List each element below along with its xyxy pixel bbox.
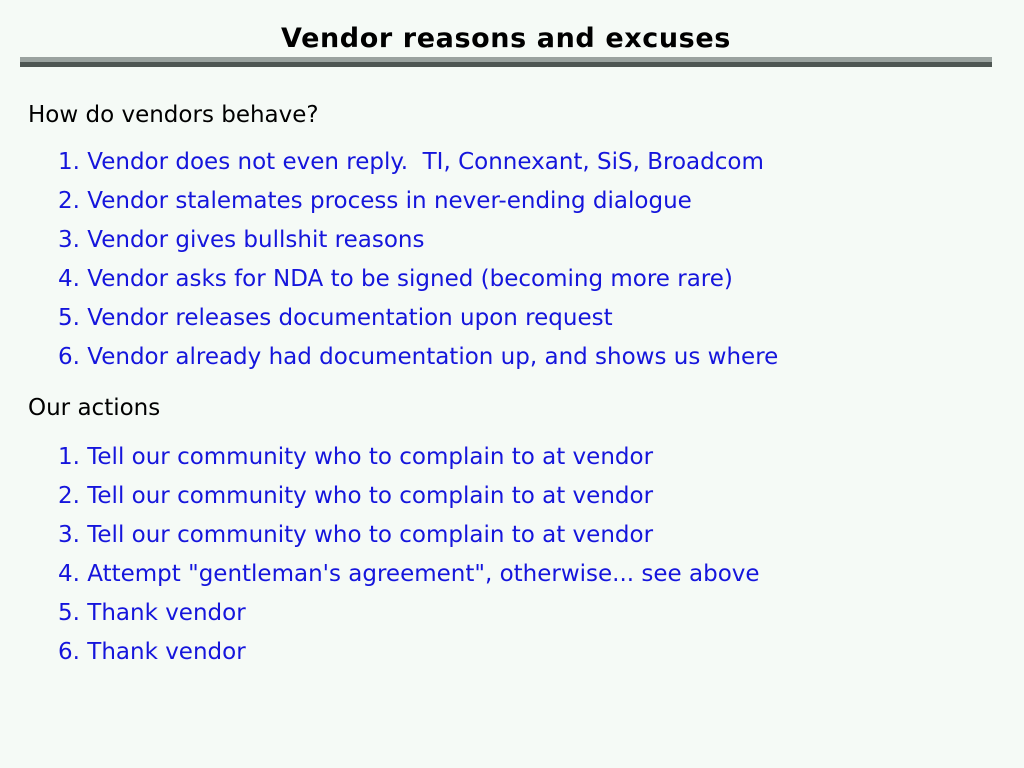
slide-body: How do vendors behave? 1. Vendor does no…: [0, 96, 1024, 672]
list-item-number: 4.: [58, 561, 80, 587]
list-item-number: 1.: [58, 149, 80, 175]
title-divider-rule: [20, 57, 992, 68]
list-item: 4. Attempt "gentleman's agreement", othe…: [0, 555, 1024, 594]
list-item-text: Tell our community who to complain to at…: [87, 483, 653, 509]
section-heading: How do vendors behave?: [0, 96, 1024, 135]
section-how-do-vendors-behave: How do vendors behave? 1. Vendor does no…: [0, 96, 1024, 377]
our-actions-list: 1. Tell our community who to complain to…: [0, 438, 1024, 672]
list-item: 5. Thank vendor: [0, 594, 1024, 633]
list-item-number: 6.: [58, 639, 80, 665]
spacer: [0, 377, 1024, 389]
list-item: 6. Thank vendor: [0, 633, 1024, 672]
list-item: 2. Tell our community who to complain to…: [0, 477, 1024, 516]
list-item: 1. Tell our community who to complain to…: [0, 438, 1024, 477]
list-item-text: Attempt "gentleman's agreement", otherwi…: [87, 561, 759, 587]
list-item: 5. Vendor releases documentation upon re…: [0, 299, 1024, 338]
list-item-text: Tell our community who to complain to at…: [87, 444, 653, 470]
list-item-text: Vendor does not even reply. TI, Connexan…: [87, 149, 764, 175]
list-item-number: 5.: [58, 305, 80, 331]
list-item-number: 6.: [58, 344, 80, 370]
list-item: 3. Vendor gives bullshit reasons: [0, 221, 1024, 260]
spacer: [0, 428, 1024, 438]
list-item-number: 2.: [58, 483, 80, 509]
list-item-text: Thank vendor: [87, 639, 245, 665]
list-item-number: 1.: [58, 444, 80, 470]
section-our-actions: Our actions 1. Tell our community who to…: [0, 389, 1024, 672]
list-item: 6. Vendor already had documentation up, …: [0, 338, 1024, 377]
list-item-text: Thank vendor: [87, 600, 245, 626]
section-heading: Our actions: [0, 389, 1024, 428]
list-item-text: Vendor stalemates process in never-endin…: [87, 188, 692, 214]
list-item: 3. Tell our community who to complain to…: [0, 516, 1024, 555]
rule-shadow-band: [20, 62, 992, 67]
list-item-text: Vendor asks for NDA to be signed (becomi…: [87, 266, 733, 292]
slide-canvas: Vendor reasons and excuses How do vendor…: [0, 0, 1024, 768]
list-item-number: 5.: [58, 600, 80, 626]
list-item-text: Vendor already had documentation up, and…: [87, 344, 778, 370]
list-item-number: 2.: [58, 188, 80, 214]
list-item-text: Vendor releases documentation upon reque…: [87, 305, 612, 331]
slide-title: Vendor reasons and excuses: [20, 24, 992, 54]
list-item-number: 4.: [58, 266, 80, 292]
list-item-text: Vendor gives bullshit reasons: [87, 227, 424, 253]
list-item-number: 3.: [58, 227, 80, 253]
list-item-text: Tell our community who to complain to at…: [87, 522, 653, 548]
spacer: [0, 135, 1024, 143]
list-item: 4. Vendor asks for NDA to be signed (bec…: [0, 260, 1024, 299]
list-item: 1. Vendor does not even reply. TI, Conne…: [0, 143, 1024, 182]
vendor-behavior-list: 1. Vendor does not even reply. TI, Conne…: [0, 143, 1024, 377]
list-item: 2. Vendor stalemates process in never-en…: [0, 182, 1024, 221]
list-item-number: 3.: [58, 522, 80, 548]
